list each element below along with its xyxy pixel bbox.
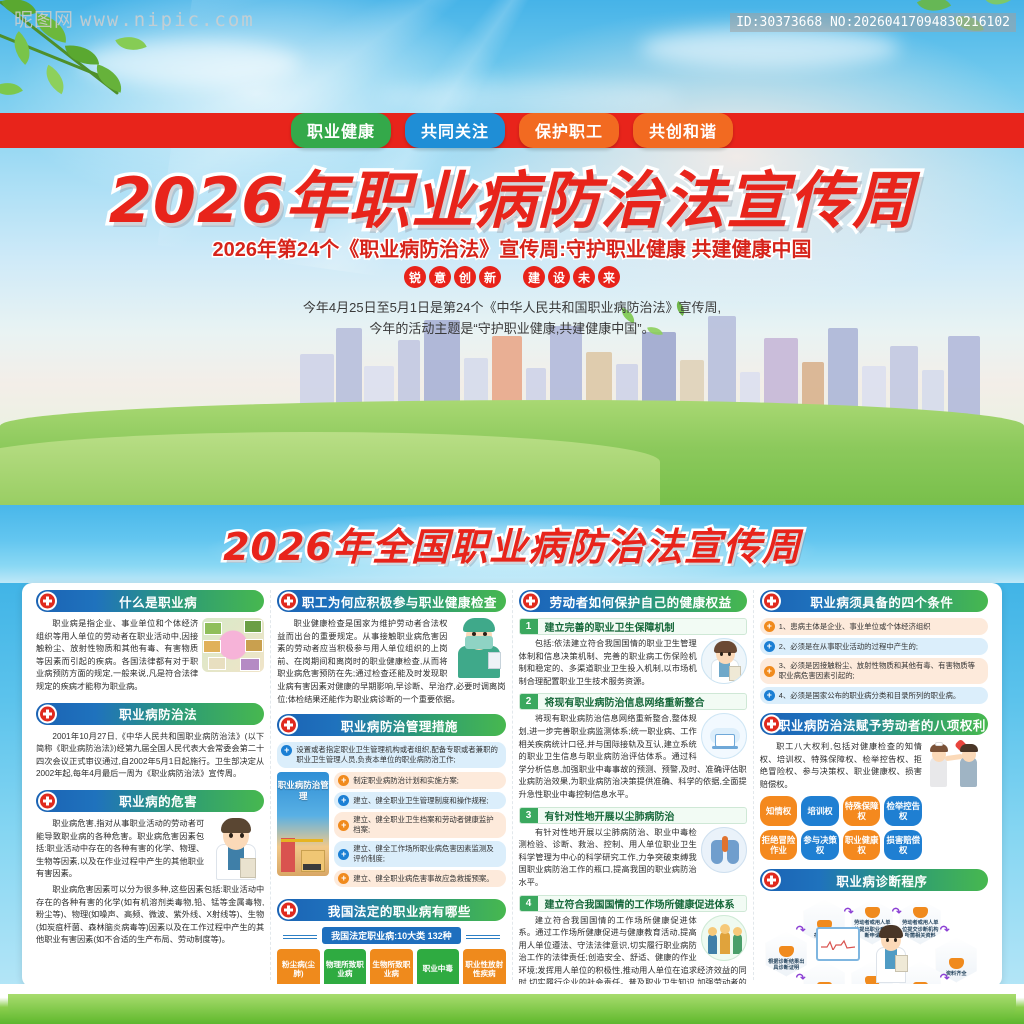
item-number: 1 xyxy=(520,619,538,634)
cross-icon xyxy=(762,715,781,734)
flow-arrow-icon: ↷ xyxy=(892,905,902,919)
rights-body: 职工八大权利,包括对健康检查的知情权、培训权、特殊保障权、检举控告权、拒绝冒险权… xyxy=(760,741,988,791)
watermark-logo: 昵图网 xyxy=(14,5,74,32)
illustration-doctor-female xyxy=(701,638,747,684)
column-4: 职业病须具备的四个条件 + 1、患病主体是企业、事业单位或个体经济组织 + 2、… xyxy=(753,590,994,980)
section-body-law: 2001年10月27日,《中华人民共和国职业病防治法》(以下简称《职业病防治法》… xyxy=(36,731,264,781)
condition-item[interactable]: + 4、必须是国家公布的职业病分类和目录所列的职业病。 xyxy=(760,687,988,704)
cross-icon xyxy=(38,704,57,723)
numbered-item-3: 3 有针对性地开展以尘肺病防治 有针对性地开展以尘肺病防治、职业中毒检测检验、诊… xyxy=(519,807,747,890)
section-title: 职业病诊断程序 xyxy=(836,871,927,890)
illustration-doctor-male xyxy=(208,818,264,880)
numbered-item-header: 3 有针对性地开展以尘肺病防治 xyxy=(519,807,747,824)
section-header-conditions: 职业病须具备的四个条件 xyxy=(760,590,988,612)
right-pill[interactable]: 参与决策权 xyxy=(801,830,839,860)
measure-item-label: 建立、健全职业卫生档案和劳动者健康监护档案; xyxy=(353,815,499,835)
numbered-item-2: 2 将现有职业病防治信息网络重新整合 将现有职业病防治信息网络重新整合,整体规划… xyxy=(519,693,747,801)
plus-icon: + xyxy=(338,820,349,831)
measures-poster-label: 职业病防治管理 xyxy=(277,780,329,802)
cross-icon xyxy=(38,592,57,611)
header-badge-3[interactable]: 共创和谐 xyxy=(633,113,733,148)
measures-lead: + 设置或者指定职业卫生管理机构或者组织,配备专职或者兼职的职业卫生管理人员,负… xyxy=(277,742,505,768)
right-pill[interactable]: 知情权 xyxy=(760,796,798,826)
section-title: 什么是职业病 xyxy=(119,592,197,611)
section-title: 职业病防治法赋予劳动者的八项权利 xyxy=(778,715,986,734)
section-title: 职业病须具备的四个条件 xyxy=(810,592,953,611)
measure-item-label: 建立、健全工作场所职业病危害因素监测及评价制度; xyxy=(353,844,499,864)
illustration-doctor-center xyxy=(868,923,914,983)
step-cap-icon xyxy=(949,958,964,969)
item-title: 建立符合我国国情的工作场所健康促进体系 xyxy=(538,896,746,911)
plus-icon: + xyxy=(338,795,349,806)
numbered-item-1: 1 建立完善的职业卫生保障机制 包括:依法建立符合我国国情的职业卫生管理体制和信… xyxy=(519,618,747,688)
item-title: 有针对性地开展以尘肺病防治 xyxy=(538,808,746,823)
item-number: 4 xyxy=(520,896,538,911)
rights-pill-grid: 知情权 培训权 特殊保障权 检举控告权 拒绝冒险作业 参与决策权 职业健康权 损… xyxy=(760,796,922,860)
header-badge-2[interactable]: 保护职工 xyxy=(519,113,619,148)
section-header-eight-rights: 职业病防治法赋予劳动者的八项权利 xyxy=(760,713,988,735)
header-badge-0[interactable]: 职业健康 xyxy=(291,113,391,148)
section-header-checkup: 职工为何应积极参与职业健康检查 xyxy=(277,590,505,612)
stamp-char: 意 xyxy=(429,266,451,288)
image-id-tag: ID:30373668 NO:20260417094830216102 xyxy=(730,13,1016,32)
cloud xyxy=(640,28,900,68)
section-title: 劳动者如何保护自己的健康权益 xyxy=(550,592,732,611)
condition-item[interactable]: + 1、患病主体是企业、事业单位或个体经济组织 xyxy=(760,618,988,635)
hero-lead-line-1: 今年4月25日至5月1日是第24个《中华人民共和国职业病防治法》宣传周, xyxy=(0,297,1024,318)
cross-icon xyxy=(762,592,781,611)
illustration-couple-highfive xyxy=(926,741,988,795)
numbered-item-header: 2 将现有职业病防治信息网络重新整合 xyxy=(519,693,747,710)
step-label: 根据诊断结果出具诊断证明 xyxy=(766,959,807,972)
condition-label: 3、必须是因接触粉尘、放射性物质和其他有毒、有害物质等职业病危害因素引起的; xyxy=(779,661,982,681)
cross-icon xyxy=(279,901,298,920)
slogan-stamps: 锐 意 创 新 建 设 未 来 xyxy=(0,266,1024,288)
measure-item-label: 制定职业病防治计划和实施方案; xyxy=(353,776,459,786)
section-title: 职业病防治管理措施 xyxy=(341,716,458,735)
illustration-cloud-laptop xyxy=(701,713,747,759)
measure-item[interactable]: + 建立、健全职业卫生档案和劳动者健康监护档案; xyxy=(334,812,505,838)
cross-icon xyxy=(521,592,540,611)
column-1: 什么是职业病 职业病是指企业、事业单位和个体经济组织等用人单位的劳动者在职业活动… xyxy=(30,590,270,980)
right-pill[interactable]: 职业健康权 xyxy=(843,830,881,860)
illustration-lungs xyxy=(701,827,747,873)
main-title: 2026年职业病防治法宣传周 xyxy=(0,150,1024,240)
flow-arrow-icon: ↷ xyxy=(796,923,806,937)
stamp-char: 来 xyxy=(598,266,620,288)
condition-item[interactable]: + 2、必须是在从事职业活动的过程中产生的; xyxy=(760,638,988,655)
watermark-url: www.nipic.com xyxy=(80,9,255,31)
flow-arrow-icon: ↷ xyxy=(940,923,950,937)
rule-left xyxy=(283,935,317,936)
hero-lead-line-2: 今年的活动主题是“守护职业健康,共建健康中国”。 xyxy=(0,318,1024,339)
measure-item[interactable]: + 建立、健全职业病危害事故应急救援预案。 xyxy=(334,870,505,887)
right-pill[interactable]: 培训权 xyxy=(801,796,839,826)
stamp-char: 新 xyxy=(479,266,501,288)
cross-icon xyxy=(279,716,298,735)
right-pill[interactable]: 检举控告权 xyxy=(884,796,922,826)
condition-label: 4、必须是国家公布的职业病分类和目录所列的职业病。 xyxy=(779,691,961,701)
column-3: 劳动者如何保护自己的健康权益 1 建立完善的职业卫生保障机制 xyxy=(512,590,753,980)
header-badge-row: 职业健康 共同关注 保护职工 共创和谐 xyxy=(0,113,1024,148)
section-header-diseases: 我国法定的职业病有哪些 xyxy=(277,899,505,921)
measure-item-label: 建立、健全职业卫生管理制度和操作规程; xyxy=(353,796,488,806)
stamp-char: 未 xyxy=(573,266,595,288)
cloud xyxy=(380,80,680,114)
condition-label: 2、必须是在从事职业活动的过程中产生的; xyxy=(779,642,918,652)
content-board: 什么是职业病 职业病是指企业、事业单位和个体经济组织等用人单位的劳动者在职业活动… xyxy=(22,583,1002,987)
right-pill[interactable]: 拒绝冒险作业 xyxy=(760,830,798,860)
column-2: 职工为何应积极参与职业健康检查 职业健康检查是国家为维护劳动者合法权益而出台的重… xyxy=(270,590,511,980)
section-header-rights-protect: 劳动者如何保护自己的健康权益 xyxy=(519,590,747,612)
plus-icon: + xyxy=(764,666,775,677)
cross-icon xyxy=(279,592,298,611)
cloud xyxy=(80,40,300,86)
section-body-checkup: 职业健康检查是国家为维护劳动者合法权益而出台的重要规定。从事接触职业病危害因素的… xyxy=(277,618,505,706)
section-header-measures: 职业病防治管理措施 xyxy=(277,714,505,736)
item-body: 将现有职业病防治信息网络重新整合,整体规划,进一步完善职业病监测体系;统一职业病… xyxy=(519,713,747,801)
right-pill[interactable]: 损害赔偿权 xyxy=(884,830,922,860)
illustration-nurse xyxy=(452,618,506,678)
numbered-item-header: 4 建立符合我国国情的工作场所健康促进体系 xyxy=(519,895,747,912)
item-title: 将现有职业病防治信息网络重新整合 xyxy=(538,694,746,709)
plus-icon: + xyxy=(764,690,775,701)
plus-icon: + xyxy=(338,775,349,786)
section-body-harm: 职业病危害,指对从事职业活动的劳动者可能导致职业病的各种危害。职业病危害因素包括… xyxy=(36,818,264,947)
item-body: 包括:依法建立符合我国国情的职业卫生管理体制和信息决策机制、完善的职业病工伤保险… xyxy=(519,638,747,688)
item-title: 建立完善的职业卫生保障机制 xyxy=(538,619,746,634)
item-number: 3 xyxy=(520,808,538,823)
cross-icon xyxy=(762,871,781,890)
measures-row: 职业病防治管理 + 制定职业病防治计划和实施方案; + 建立、健全职业卫生管理制… xyxy=(277,772,505,890)
disease-count-label: 我国法定职业病:10大类 132种 xyxy=(322,927,461,944)
item-number: 2 xyxy=(520,694,538,709)
section-title: 职业病防治法 xyxy=(119,704,197,723)
condition-label: 1、患病主体是企业、事业单位或个体经济组织 xyxy=(779,622,931,632)
footer-bar xyxy=(0,984,1024,1024)
ecg-monitor-icon xyxy=(816,927,860,961)
item-body: 有针对性地开展以尘肺病防治、职业中毒检测检验、诊断、救治、控制、用人单位职业卫生… xyxy=(519,827,747,890)
header-badge-1[interactable]: 共同关注 xyxy=(405,113,505,148)
illustration-workers-group xyxy=(701,915,747,961)
stamp-char: 创 xyxy=(454,266,476,288)
stamp-char: 锐 xyxy=(404,266,426,288)
ecg-line-icon xyxy=(821,939,855,950)
measure-item-label: 建立、健全职业病危害事故应急救援预案。 xyxy=(353,874,493,884)
stamp-char: 设 xyxy=(548,266,570,288)
section-title: 职工为何应积极参与职业健康检查 xyxy=(302,592,497,611)
plus-icon: + xyxy=(764,641,775,652)
hero-lead-text: 今年4月25日至5月1日是第24个《中华人民共和国职业病防治法》宣传周, 今年的… xyxy=(0,297,1024,339)
measure-item[interactable]: + 建立、健全职业卫生管理制度和操作规程; xyxy=(334,792,505,809)
banner-title: 2026年全国职业病防治法宣传周 xyxy=(0,516,1024,571)
illustration-hazards xyxy=(202,618,264,672)
plus-icon: + xyxy=(764,621,775,632)
measures-poster: 职业病防治管理 xyxy=(277,772,329,876)
section-header-law: 职业病防治法 xyxy=(36,703,264,725)
measures-list: + 制定职业病防治计划和实施方案; + 建立、健全职业卫生管理制度和操作规程; … xyxy=(334,772,505,890)
flow-arrow-icon: ↷ xyxy=(844,905,854,919)
poster-root: 职业健康 共同关注 保护职工 共创和谐 2026年职业病防治法宣传周 2026年… xyxy=(0,0,1024,1024)
section-header-diagnosis: 职业病诊断程序 xyxy=(760,869,988,891)
paragraph: 职业病危害因素可以分为很多种,这些因素包括:职业活动中存在的各种有害的化学(如有… xyxy=(36,884,264,947)
numbered-item-header: 1 建立完善的职业卫生保障机制 xyxy=(519,618,747,635)
measure-item[interactable]: + 建立、健全工作场所职业病危害因素监测及评价制度; xyxy=(334,841,505,867)
conditions-list: + 1、患病主体是企业、事业单位或个体经济组织 + 2、必须是在从事职业活动的过… xyxy=(760,618,988,704)
condition-item[interactable]: + 3、必须是因接触粉尘、放射性物质和其他有毒、有害物质等职业病危害因素引起的; xyxy=(760,658,988,684)
rule-right xyxy=(466,935,500,936)
right-pill[interactable]: 特殊保障权 xyxy=(843,796,881,826)
paragraph: 2001年10月27日,《中华人民共和国职业病防治法》(以下简称《职业病防治法》… xyxy=(36,731,264,781)
measure-item[interactable]: + 制定职业病防治计划和实施方案; xyxy=(334,772,505,789)
plus-icon: + xyxy=(281,745,292,756)
subtitle: 2026年第24个《职业病防治法》宣传周:守护职业健康 共建健康中国 xyxy=(0,233,1024,262)
measures-lead-text: 设置或者指定职业卫生管理机构或者组织,配备专职或者兼职的职业卫生管理人员,负责本… xyxy=(296,745,499,765)
section-title: 我国法定的职业病有哪些 xyxy=(328,901,471,920)
step-cap-icon xyxy=(779,946,794,957)
stamp-char: 建 xyxy=(523,266,545,288)
section-body-what-is: 职业病是指企业、事业单位和个体经济组织等用人单位的劳动者在职业活动中,因接触粉尘… xyxy=(36,618,264,694)
section-title: 职业病的危害 xyxy=(119,791,197,810)
step-cap-icon xyxy=(913,907,928,918)
plus-icon: + xyxy=(338,849,349,860)
section-header-what-is: 什么是职业病 xyxy=(36,590,264,612)
step-cap-icon xyxy=(865,907,880,918)
cross-icon xyxy=(38,791,57,810)
disease-count-row: 我国法定职业病:10大类 132种 xyxy=(277,927,505,944)
section-header-harm: 职业病的危害 xyxy=(36,790,264,812)
diagnosis-step[interactable]: 根据诊断结果出具诊断证明 xyxy=(766,931,807,976)
plus-icon: + xyxy=(338,873,349,884)
site-watermark: 昵图网www.nipic.com xyxy=(14,5,255,32)
